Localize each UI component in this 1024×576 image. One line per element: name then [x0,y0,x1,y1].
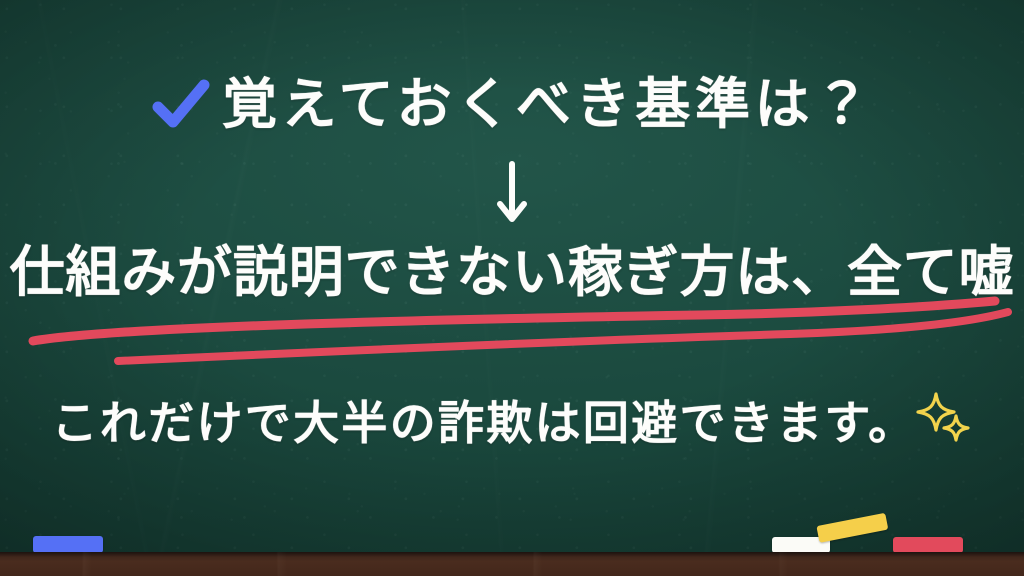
sparkles-icon [916,392,972,448]
board-copy: 覚えておくべき基準は？ 仕組みが説明できない稼ぎ方は、全て嘘 これだけで大半の詐… [0,0,1024,506]
headline-text: 覚えておくべき基準は？ [222,77,874,132]
chalk-yellow[interactable] [816,513,888,543]
red-underline-strokes [0,297,1024,367]
chalk-blue[interactable] [33,536,103,553]
closing-text: これだけで大半の詐欺は回避できます。 [52,400,917,446]
check-icon [150,74,212,134]
main-statement-block: 仕組みが説明できない稼ぎ方は、全て嘘 [0,243,1024,363]
headline-line: 覚えておくべき基準は？ [0,74,1024,134]
closing-line: これだけで大半の詐欺は回避できます。 [0,392,1024,454]
chalkboard-ledge [0,552,1024,576]
connector-line [0,160,1024,226]
arrow-down-icon [495,160,529,226]
main-statement-text: 仕組みが説明できない稼ぎ方は、全て嘘 [0,243,1024,302]
chalkboard-slide: 覚えておくべき基準は？ 仕組みが説明できない稼ぎ方は、全て嘘 これだけで大半の詐… [0,0,1024,576]
chalk-red[interactable] [893,537,963,553]
